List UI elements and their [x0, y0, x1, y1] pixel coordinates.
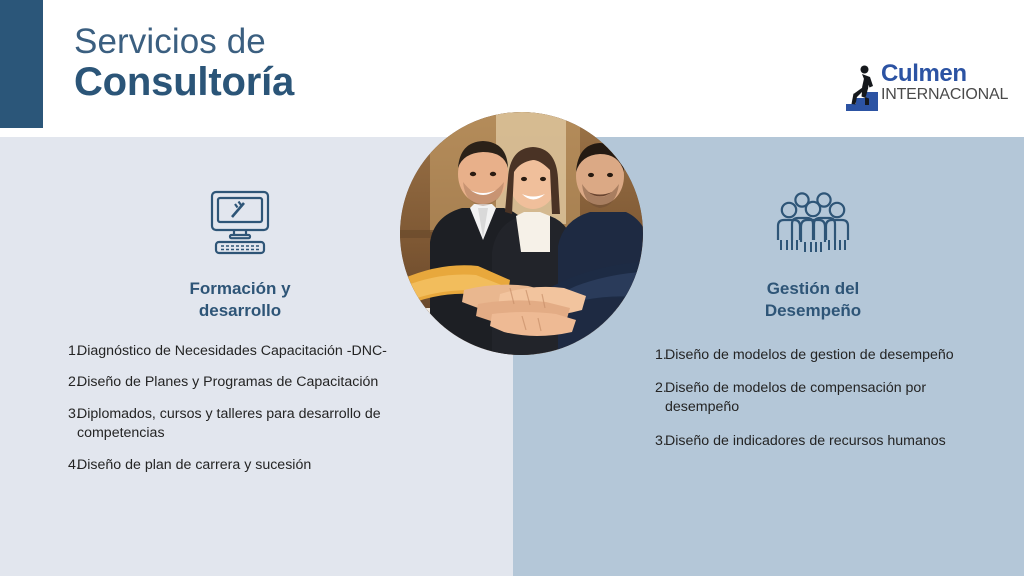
- climbing-figure-steps-icon: [845, 64, 879, 112]
- group-of-people-icon: [776, 190, 850, 254]
- services-list-gestion: 1. Diseño de modelos de gestion de desem…: [628, 346, 998, 452]
- column-heading-gestion: Gestión del Desempeño: [628, 278, 998, 322]
- list-item-number: 4.: [40, 456, 77, 475]
- list-item-text: Diagnóstico de Necesidades Capacitación …: [77, 342, 440, 361]
- list-item-text: Diplomados, cursos y talleres para desar…: [77, 405, 440, 443]
- title-line-1: Servicios de: [74, 24, 294, 60]
- logo-name: Culmen: [881, 62, 977, 86]
- list-item-text: Diseño de modelos de gestion de desempeñ…: [665, 346, 998, 365]
- page-title: Servicios de Consultoría: [74, 24, 294, 102]
- list-item-number: 1.: [40, 342, 77, 361]
- brand-logo: Culmen INTERNACIONAL: [845, 62, 975, 114]
- list-item: 1. Diagnóstico de Necesidades Capacitaci…: [40, 342, 440, 361]
- list-item: 4. Diseño de plan de carrera y sucesión: [40, 456, 440, 475]
- list-item-number: 3.: [628, 432, 665, 451]
- list-item-number: 2.: [628, 379, 665, 398]
- list-item-text: Diseño de modelos de compensación por de…: [665, 379, 998, 417]
- list-item: 3. Diplomados, cursos y talleres para de…: [40, 405, 440, 443]
- logo-wordmark: Culmen INTERNACIONAL: [881, 62, 977, 104]
- list-item: 2. Diseño de modelos de compensación por…: [628, 379, 998, 417]
- list-item: 1. Diseño de modelos de gestion de desem…: [628, 346, 998, 365]
- list-item: 3. Diseño de indicadores de recursos hum…: [628, 432, 998, 451]
- list-item-number: 1.: [628, 346, 665, 365]
- list-item-number: 2.: [40, 373, 77, 392]
- logo-subtitle: INTERNACIONAL: [881, 87, 977, 104]
- slide-canvas: Servicios de Consultoría Culmen INTERNAC…: [0, 0, 1024, 576]
- list-item-number: 3.: [40, 405, 77, 424]
- accent-bar: [0, 0, 43, 128]
- list-item-text: Diseño de indicadores de recursos humano…: [665, 432, 998, 451]
- column-heading-formacion: Formación y desarrollo: [40, 278, 440, 322]
- column-gestion: Gestión del Desempeño 1. Diseño de model…: [628, 190, 998, 466]
- list-item-text: Diseño de plan de carrera y sucesión: [77, 456, 440, 475]
- column-formacion: Formación y desarrollo 1. Diagnóstico de…: [40, 190, 440, 488]
- desktop-computer-icon: [204, 190, 276, 256]
- title-line-2: Consultoría: [74, 62, 294, 103]
- list-item-text: Diseño de Planes y Programas de Capacita…: [77, 373, 440, 392]
- list-item: 2. Diseño de Planes y Programas de Capac…: [40, 373, 440, 392]
- services-list-formacion: 1. Diagnóstico de Necesidades Capacitaci…: [40, 342, 440, 475]
